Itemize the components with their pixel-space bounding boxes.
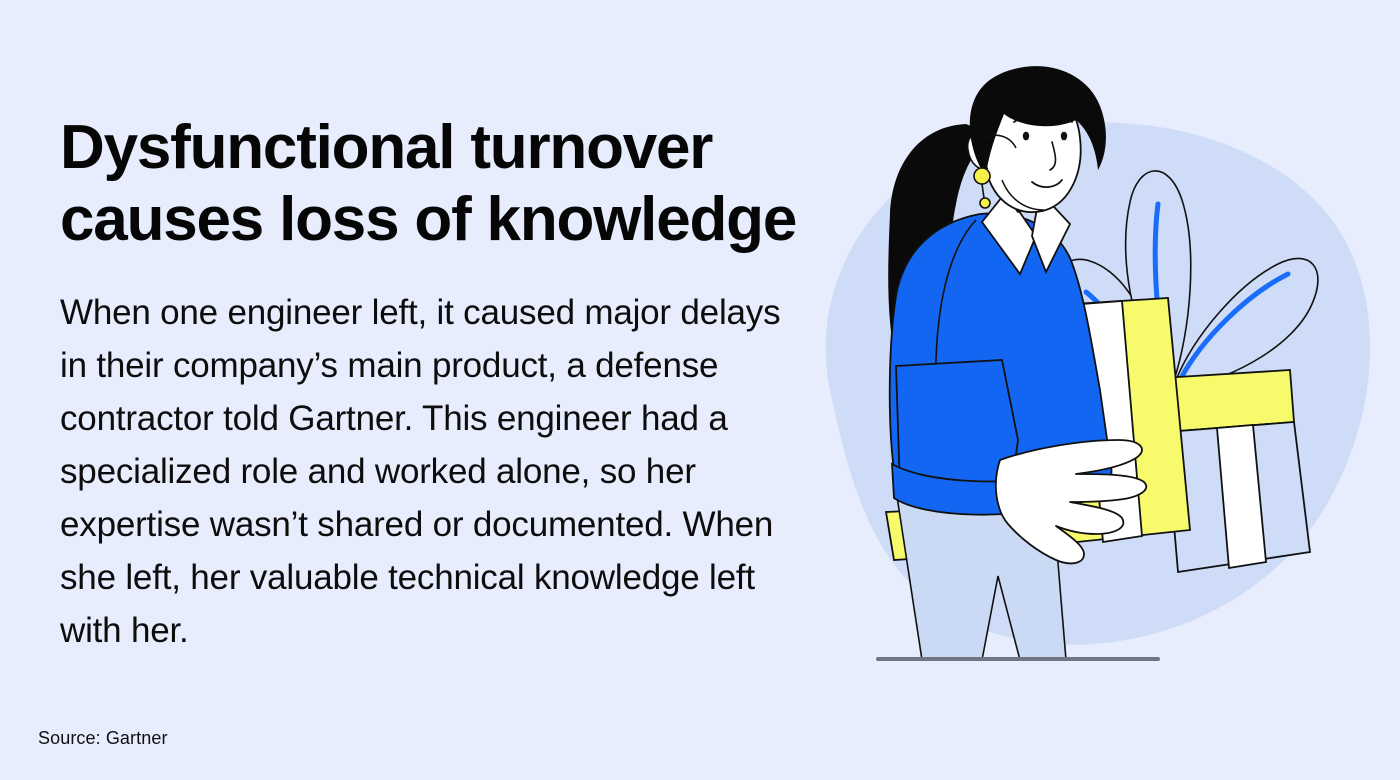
text-column: Dysfunctional turnover causes loss of kn…	[60, 112, 820, 657]
body-paragraph: When one engineer left, it caused major …	[60, 256, 810, 657]
poster-canvas: Dysfunctional turnover causes loss of kn…	[0, 0, 1400, 780]
page-title: Dysfunctional turnover causes loss of kn…	[60, 112, 820, 256]
woman-carrying-gift-boxes-illustration	[770, 60, 1400, 720]
source-attribution: Source: Gartner	[38, 728, 168, 749]
